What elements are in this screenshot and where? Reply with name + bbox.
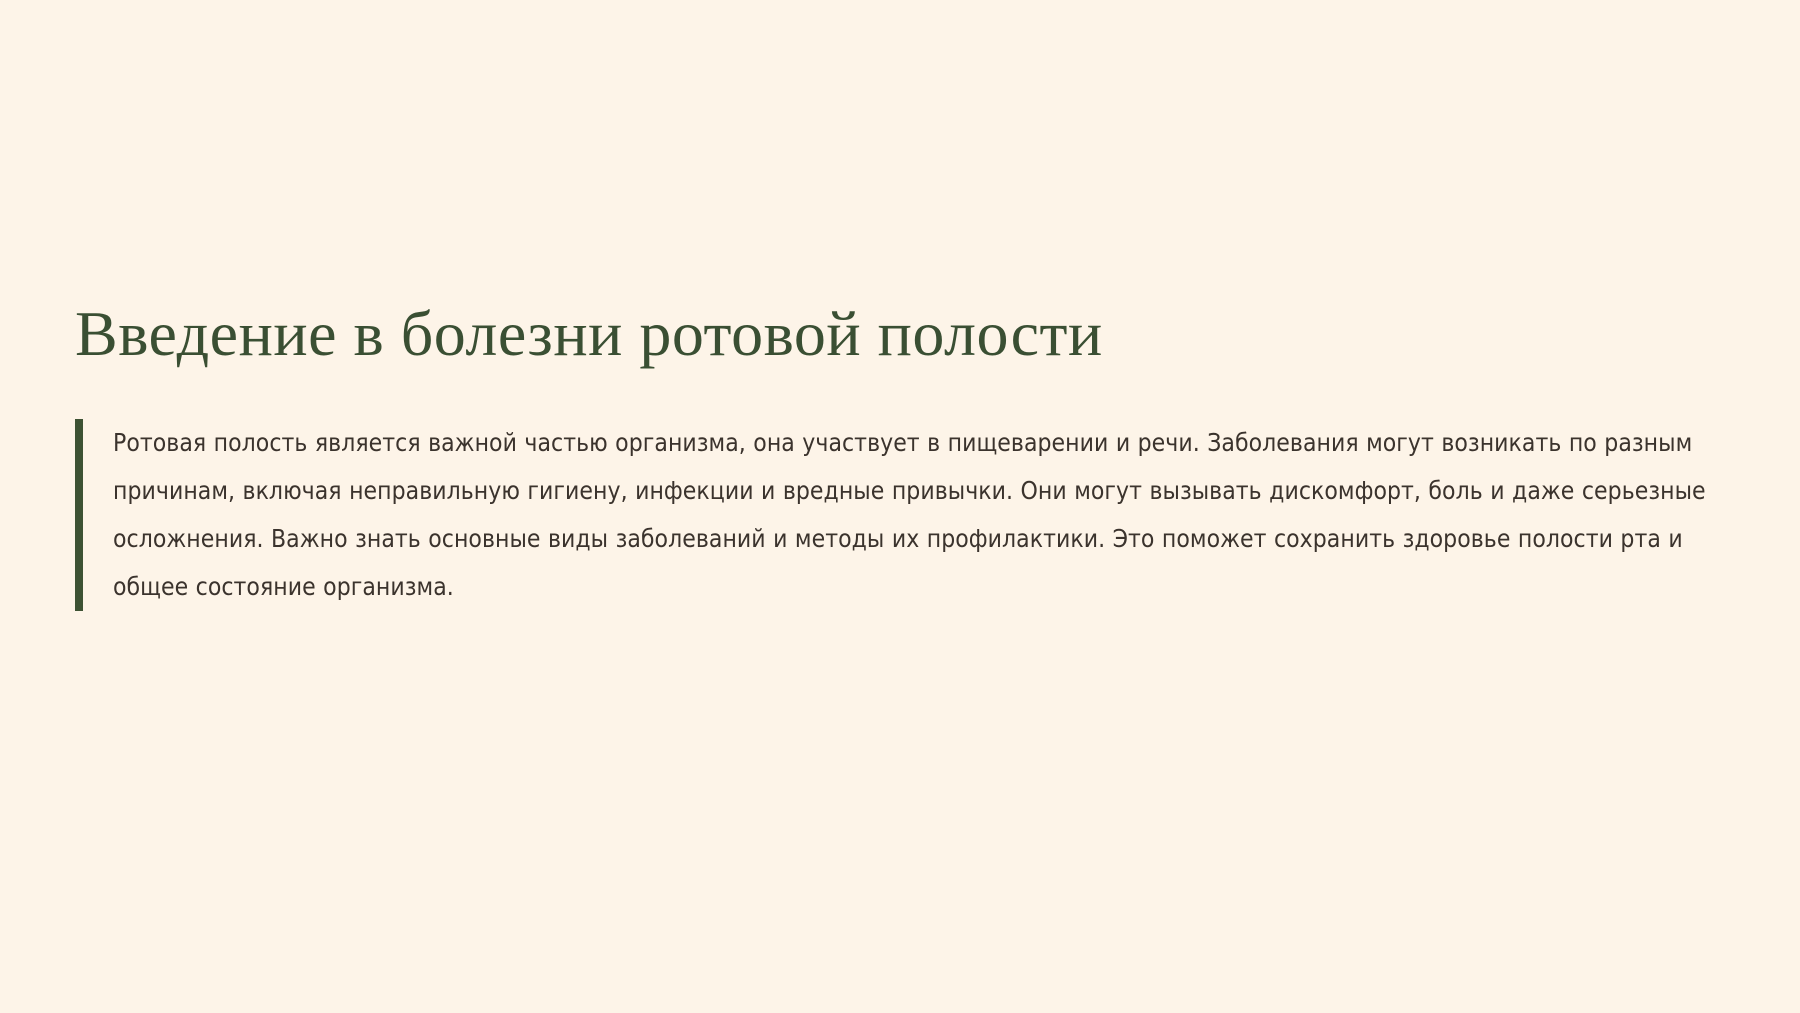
slide-canvas: Введение в болезни ротовой полости Ротов… [0, 0, 1800, 1013]
page-title: Введение в болезни ротовой полости [75, 300, 1735, 367]
accent-bar [75, 419, 83, 611]
body-paragraph: Ротовая полость является важной частью о… [113, 419, 1733, 611]
body-quote-block: Ротовая полость является важной частью о… [75, 419, 1735, 611]
slide-content-block: Введение в болезни ротовой полости Ротов… [75, 300, 1735, 611]
